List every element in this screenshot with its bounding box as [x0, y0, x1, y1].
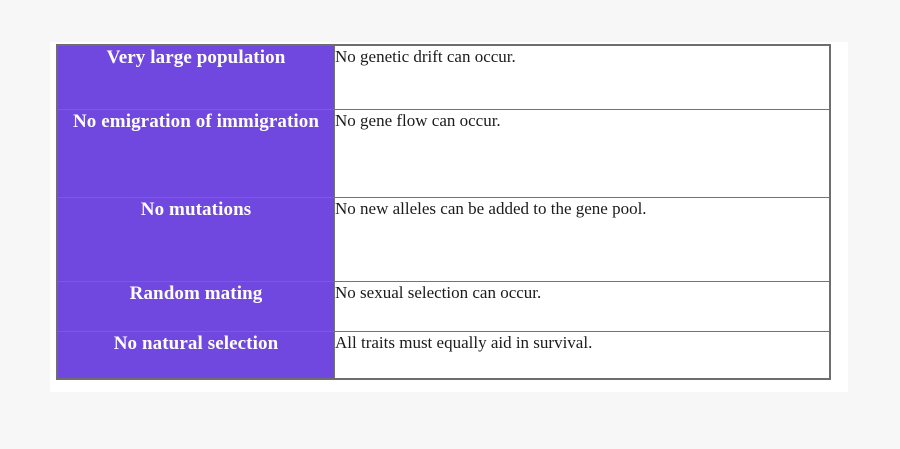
condition-cell: Very large population	[57, 45, 335, 109]
table-row: No emigration of immigration No gene flo…	[57, 109, 830, 197]
table-row: No natural selection All traits must equ…	[57, 331, 830, 379]
condition-cell: No mutations	[57, 197, 335, 281]
page-root: Very large population No genetic drift c…	[0, 0, 900, 449]
hardy-weinberg-conditions-table: Very large population No genetic drift c…	[56, 44, 831, 380]
result-cell: No gene flow can occur.	[335, 109, 831, 197]
condition-cell: Random mating	[57, 281, 335, 331]
result-cell: No sexual selection can occur.	[335, 281, 831, 331]
result-cell: No new alleles can be added to the gene …	[335, 197, 831, 281]
table-row: Random mating No sexual selection can oc…	[57, 281, 830, 331]
table-row: Very large population No genetic drift c…	[57, 45, 830, 109]
table-body: Very large population No genetic drift c…	[57, 45, 830, 379]
table-row: No mutations No new alleles can be added…	[57, 197, 830, 281]
result-cell: No genetic drift can occur.	[335, 45, 831, 109]
result-cell: All traits must equally aid in survival.	[335, 331, 831, 379]
condition-cell: No natural selection	[57, 331, 335, 379]
condition-cell: No emigration of immigration	[57, 109, 335, 197]
